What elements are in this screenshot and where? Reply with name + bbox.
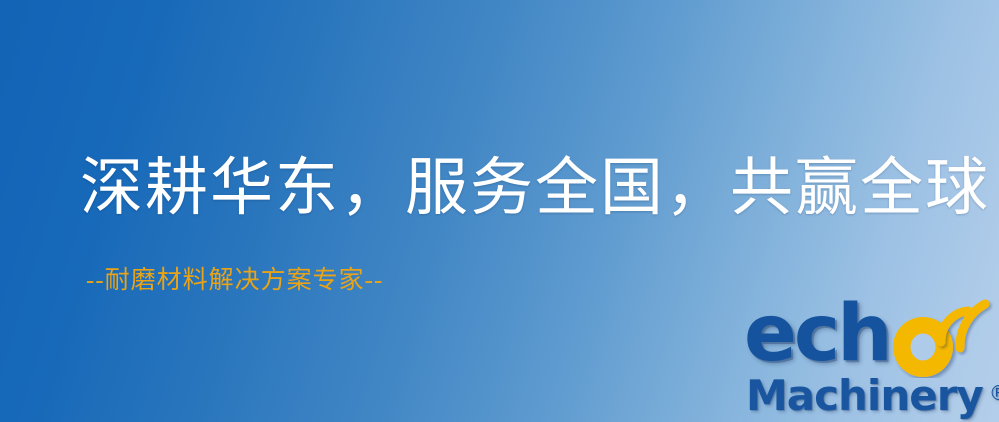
registered-trademark-symbol: ® (989, 381, 999, 405)
banner-subtitle: --耐磨材料解决方案专家-- (86, 266, 383, 296)
logo-wordmark: ech (744, 296, 959, 376)
logo-text-ech: ech (744, 294, 890, 374)
logo-tagline: Machinery® (746, 370, 999, 419)
banner-headline: 深耕华东，服务全国，共赢全球 (80, 152, 990, 224)
hero-banner: 深耕华东，服务全国，共赢全球 --耐磨材料解决方案专家-- ech (0, 0, 999, 422)
logo-tagline-text: Machinery (746, 371, 983, 420)
signal-waves-icon (920, 286, 999, 356)
company-logo: ech (744, 296, 999, 422)
